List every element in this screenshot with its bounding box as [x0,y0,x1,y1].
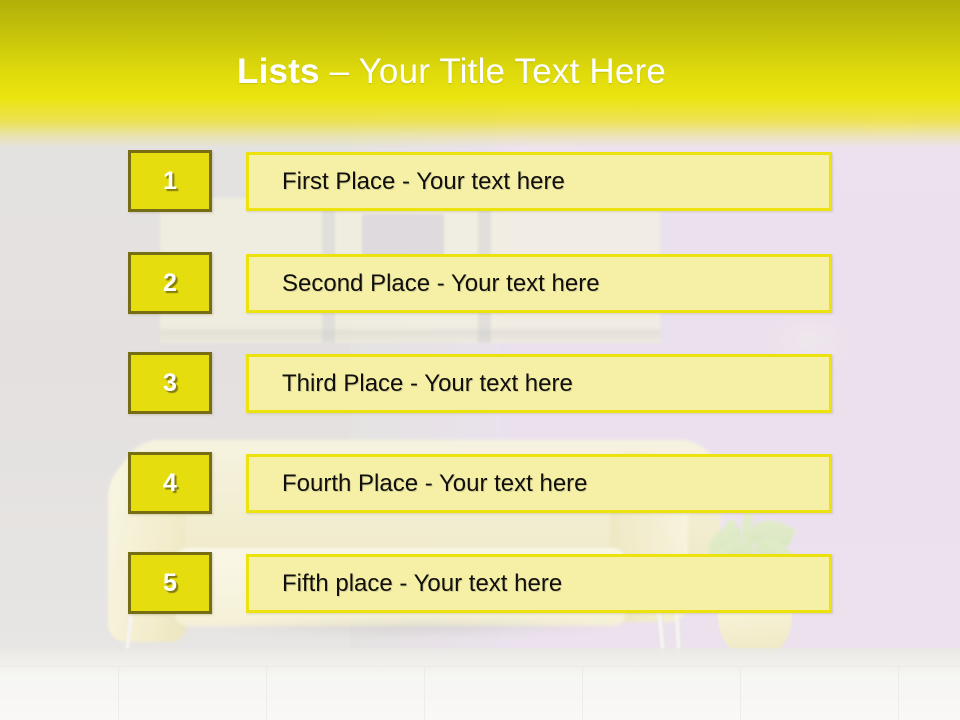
list-text-box[interactable]: Fifth place - Your text here [246,554,832,613]
list-item[interactable]: 1 First Place - Your text here [128,150,832,214]
list-text-label: Third Place - Your text here [249,370,573,398]
list-text-label: First Place - Your text here [249,168,565,196]
list-text-label: Fifth place - Your text here [249,570,562,598]
list-item[interactable]: 5 Fifth place - Your text here [128,552,832,616]
list-text-box[interactable]: First Place - Your text here [246,152,832,211]
list-item[interactable]: 4 Fourth Place - Your text here [128,452,832,516]
list-text-box[interactable]: Fourth Place - Your text here [246,454,832,513]
presentation-slide: Lists – Your Title Text Here 1 First Pla… [0,0,960,720]
list-number-badge[interactable]: 4 [128,452,212,514]
list-number-label: 2 [163,271,177,296]
list-text-label: Fourth Place - Your text here [249,470,588,498]
list-number-badge[interactable]: 1 [128,150,212,212]
list-number-label: 1 [163,169,177,194]
list-item[interactable]: 3 Third Place - Your text here [128,352,832,416]
list-text-label: Second Place - Your text here [249,270,600,298]
list-text-box[interactable]: Third Place - Your text here [246,354,832,413]
list-text-box[interactable]: Second Place - Your text here [246,254,832,313]
list-number-badge[interactable]: 3 [128,352,212,414]
list-number-badge[interactable]: 5 [128,552,212,614]
list-number-label: 4 [163,471,177,496]
list-number-label: 3 [163,371,177,396]
list-item[interactable]: 2 Second Place - Your text here [128,252,832,316]
list-number-label: 5 [163,571,177,596]
list-container: 1 First Place - Your text here 2 Second … [0,0,960,720]
list-number-badge[interactable]: 2 [128,252,212,314]
